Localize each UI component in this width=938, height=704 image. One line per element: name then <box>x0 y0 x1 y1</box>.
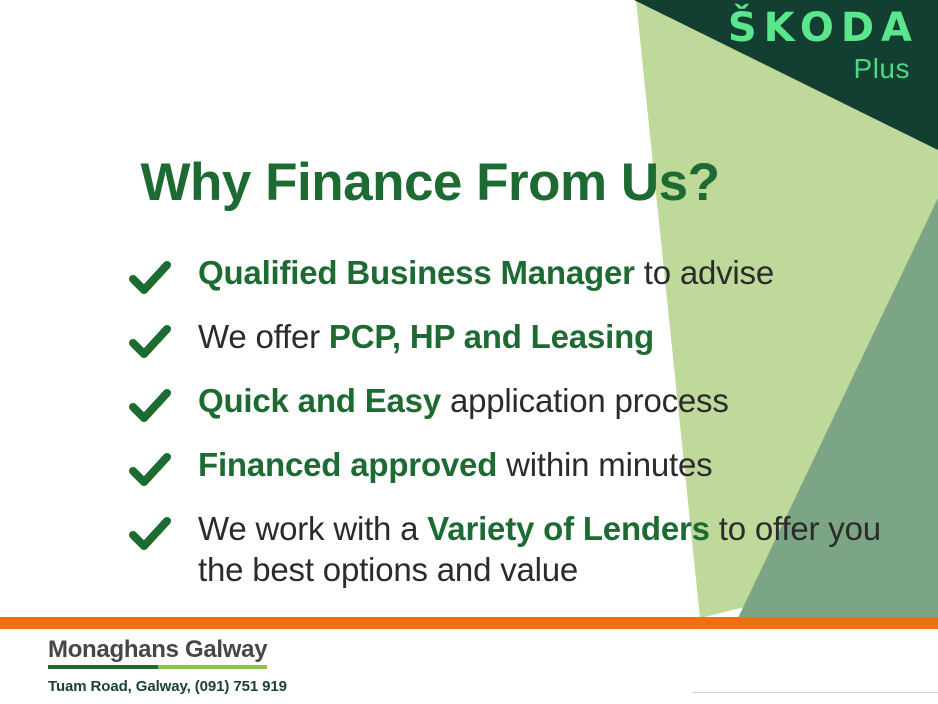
check-icon <box>128 256 172 300</box>
dealer-name-underline <box>48 665 267 669</box>
footer-divider <box>0 617 938 629</box>
skoda-plus-label: Plus <box>728 55 910 83</box>
plain-text: We offer <box>198 318 329 355</box>
list-item-text: Quick and Easy application process <box>198 380 729 421</box>
list-item: We work with a Variety of Lenders to off… <box>128 508 888 591</box>
benefits-list: Qualified Business Manager to advise We … <box>128 252 888 607</box>
dealer-name-text: Monaghans Galway <box>48 636 267 663</box>
dealer-info: Monaghans Galway Tuam Road, Galway, (091… <box>48 636 287 695</box>
dealer-name: Monaghans Galway <box>48 636 267 669</box>
plain-text: within minutes <box>497 446 712 483</box>
check-icon <box>128 448 172 492</box>
emphasis-text: PCP, HP and Leasing <box>329 318 654 355</box>
list-item: Qualified Business Manager to advise <box>128 252 888 300</box>
check-icon <box>128 384 172 428</box>
list-item: We offer PCP, HP and Leasing <box>128 316 888 364</box>
emphasis-text: Quick and Easy <box>198 382 441 419</box>
underline-light-segment <box>158 665 268 669</box>
list-item: Quick and Easy application process <box>128 380 888 428</box>
skoda-wordmark: ŠKODA <box>728 8 919 48</box>
plain-text: We work with a <box>198 510 427 547</box>
list-item-text: Qualified Business Manager to advise <box>198 252 774 293</box>
dealer-address: Tuam Road, Galway, (091) 751 919 <box>48 678 287 695</box>
emphasis-text: Qualified Business Manager <box>198 254 635 291</box>
emphasis-text: Financed approved <box>198 446 497 483</box>
plain-text: application process <box>441 382 729 419</box>
underline-dark-segment <box>48 665 158 669</box>
check-icon <box>128 320 172 364</box>
emphasis-text: Variety of Lenders <box>427 510 710 547</box>
page-title: Why Finance From Us? <box>0 152 860 213</box>
check-icon <box>128 512 172 556</box>
promo-slide: ŠKODA Plus Why Finance From Us? Qualifie… <box>0 0 938 704</box>
list-item-text: Financed approved within minutes <box>198 444 712 485</box>
brand-logo: ŠKODA Plus <box>728 8 912 83</box>
plain-text: to advise <box>635 254 774 291</box>
list-item-text: We offer PCP, HP and Leasing <box>198 316 654 357</box>
list-item: Financed approved within minutes <box>128 444 888 492</box>
footer-hairline <box>693 692 938 693</box>
list-item-text: We work with a Variety of Lenders to off… <box>198 508 888 591</box>
